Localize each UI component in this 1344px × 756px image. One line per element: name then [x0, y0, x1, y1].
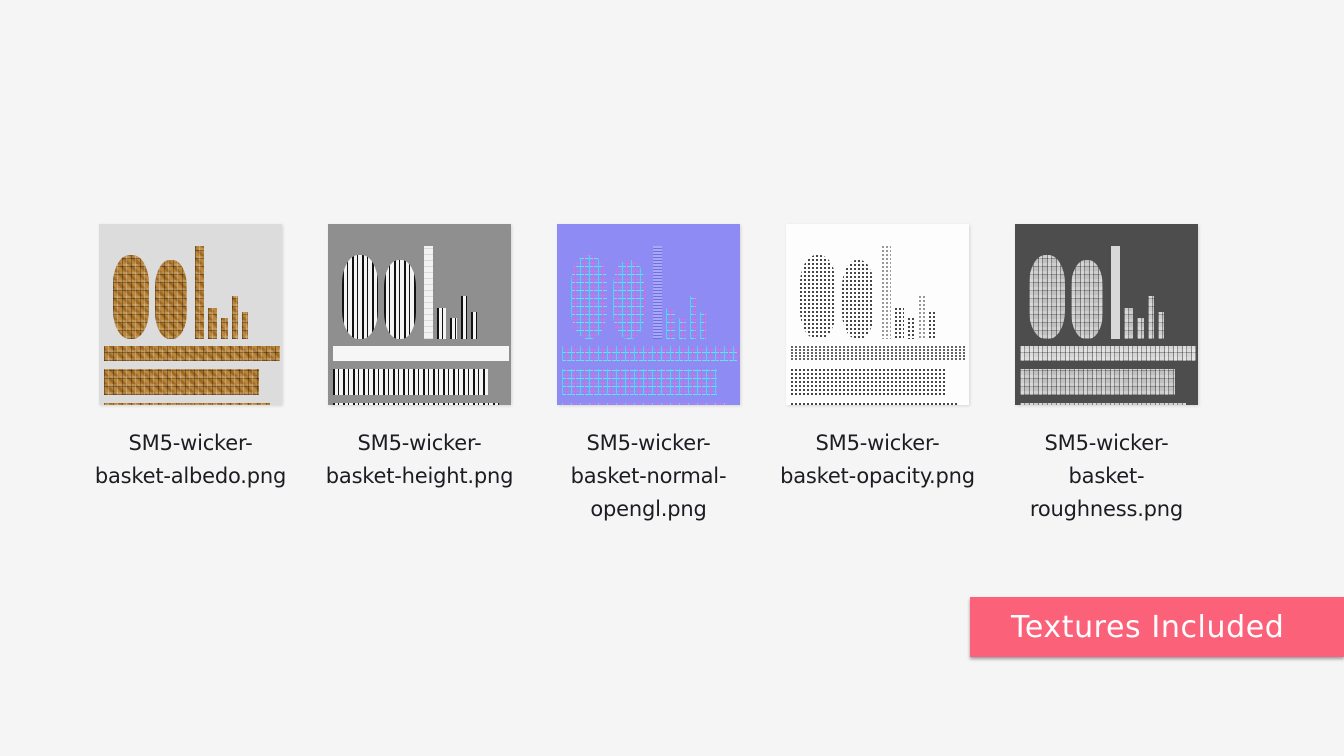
texture-atlas	[557, 224, 740, 405]
atlas-block-3	[690, 296, 696, 339]
thumbnail-image	[99, 224, 282, 405]
atlas-band-1	[562, 346, 738, 361]
atlas-block-3	[232, 296, 238, 339]
atlas-block-1	[208, 308, 217, 339]
atlas-basket-body-right	[1071, 260, 1103, 339]
texture-tile-normal-opengl[interactable]: SM5-wicker-basket-normal-opengl.png	[534, 224, 763, 526]
atlas-block-4	[471, 312, 477, 339]
atlas-basket-body-right	[384, 260, 416, 339]
thumbnail-image	[786, 224, 969, 405]
atlas-block-2	[450, 318, 457, 339]
atlas-band-1	[1020, 346, 1196, 361]
texture-thumbnail-roughness[interactable]	[1015, 224, 1198, 405]
atlas-block-2	[1137, 318, 1144, 339]
atlas-tall-strip	[882, 246, 891, 339]
texture-thumbnail-height[interactable]	[328, 224, 511, 405]
texture-tile-opacity[interactable]: SM5-wicker-basket-opacity.png	[763, 224, 992, 493]
texture-atlas	[99, 224, 282, 405]
thumbnail-image	[557, 224, 740, 405]
atlas-block-3	[461, 296, 467, 339]
atlas-block-1	[1124, 308, 1133, 339]
atlas-band-1	[333, 346, 509, 361]
texture-filename-label: SM5-wicker-basket-roughness.png	[1009, 427, 1205, 526]
atlas-band-3	[562, 403, 728, 405]
texture-thumbnail-opacity[interactable]	[786, 224, 969, 405]
texture-filename-label: SM5-wicker-basket-normal-opengl.png	[551, 427, 747, 526]
atlas-basket-body-left	[571, 255, 607, 339]
atlas-basket-body-right	[613, 260, 645, 339]
atlas-band-1	[104, 346, 280, 361]
atlas-tall-strip	[195, 246, 204, 339]
texture-thumbnail-albedo[interactable]	[99, 224, 282, 405]
atlas-basket-body-right	[842, 260, 874, 339]
texture-tile-albedo[interactable]: SM5-wicker-basket-albedo.png	[76, 224, 305, 493]
atlas-basket-body-left	[342, 255, 378, 339]
atlas-basket-body-left	[800, 255, 836, 339]
atlas-block-4	[1158, 312, 1164, 339]
texture-filename-label: SM5-wicker-basket-albedo.png	[93, 427, 289, 493]
atlas-basket-body-left	[113, 255, 149, 339]
atlas-block-1	[437, 308, 446, 339]
atlas-basket-body-right	[155, 260, 187, 339]
atlas-basket-body-left	[1029, 255, 1065, 339]
textures-included-banner: Textures Included	[970, 597, 1344, 657]
banner-label: Textures Included	[1011, 610, 1284, 645]
atlas-band-1	[791, 346, 967, 361]
atlas-band-3	[1020, 403, 1186, 405]
texture-filename-label: SM5-wicker-basket-height.png	[322, 427, 518, 493]
texture-atlas	[1015, 224, 1198, 405]
atlas-band-3	[791, 403, 957, 405]
atlas-tall-strip	[653, 246, 662, 339]
atlas-band-2	[333, 369, 488, 395]
atlas-block-2	[908, 318, 915, 339]
texture-thumbnail-normal-opengl[interactable]	[557, 224, 740, 405]
texture-gallery: SM5-wicker-basket-albedo.png SM5-w	[0, 224, 1344, 526]
atlas-block-2	[679, 318, 686, 339]
atlas-band-2	[791, 369, 946, 395]
atlas-band-2	[562, 369, 717, 395]
atlas-tall-strip	[424, 246, 433, 339]
texture-atlas	[328, 224, 511, 405]
atlas-block-1	[666, 308, 675, 339]
atlas-block-1	[895, 308, 904, 339]
atlas-block-4	[242, 312, 248, 339]
atlas-band-3	[333, 403, 499, 405]
atlas-block-4	[700, 312, 706, 339]
texture-tile-height[interactable]: SM5-wicker-basket-height.png	[305, 224, 534, 493]
atlas-block-4	[929, 312, 935, 339]
atlas-block-3	[919, 296, 925, 339]
thumbnail-image	[1015, 224, 1198, 405]
atlas-block-3	[1148, 296, 1154, 339]
thumbnail-image	[328, 224, 511, 405]
atlas-band-2	[1020, 369, 1175, 395]
atlas-band-2	[104, 369, 259, 395]
atlas-band-3	[104, 403, 270, 405]
atlas-tall-strip	[1111, 246, 1120, 339]
texture-atlas	[786, 224, 969, 405]
texture-tile-roughness[interactable]: SM5-wicker-basket-roughness.png	[992, 224, 1221, 526]
texture-filename-label: SM5-wicker-basket-opacity.png	[780, 427, 976, 493]
atlas-block-2	[221, 318, 228, 339]
